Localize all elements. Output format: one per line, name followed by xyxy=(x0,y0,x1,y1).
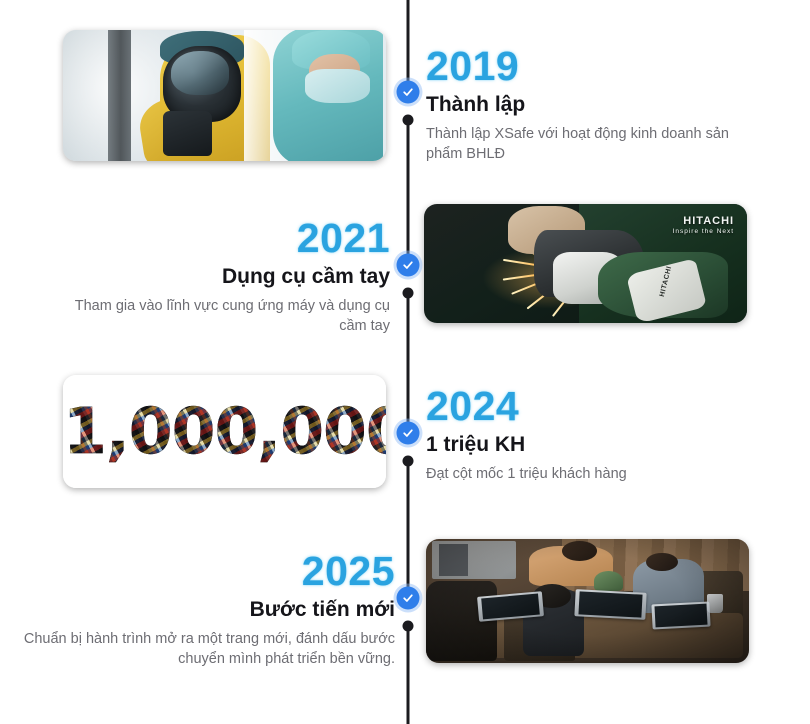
milestone-year: 2021 xyxy=(60,218,390,259)
image-brand-label: HITACHI xyxy=(605,216,734,228)
milestone-image-2025 xyxy=(426,539,749,663)
milestone-headline: Bước tiến mới xyxy=(20,597,395,623)
milestone-text-2025: 2025 Bước tiến mới Chuẩn bị hành trình m… xyxy=(20,551,395,670)
milestone-description: Chuẩn bị hành trình mở ra một trang mới,… xyxy=(20,629,395,670)
spine-segment-5 xyxy=(407,626,410,724)
check-icon xyxy=(402,592,415,605)
scene-protective-equipment xyxy=(63,30,386,161)
milestone-year: 2019 xyxy=(426,46,756,87)
check-icon xyxy=(402,86,415,99)
spine-segment-4 xyxy=(407,461,410,598)
milestone-year: 2025 xyxy=(20,551,395,592)
spine-segment-1 xyxy=(407,0,410,92)
scene-angle-grinder: HITACHI Inspire the Next HITACHI xyxy=(424,204,747,323)
mosaic-number: 1,000,000 xyxy=(63,395,386,468)
milestone-check-2021[interactable] xyxy=(397,254,420,277)
milestone-text-2024: 2024 1 triệu KH Đạt cột mốc 1 triệu khác… xyxy=(426,386,756,484)
milestone-check-2019[interactable] xyxy=(397,81,420,104)
milestone-image-2019 xyxy=(63,30,386,161)
spine-segment-3 xyxy=(407,293,410,433)
check-icon xyxy=(402,427,415,440)
milestone-text-2019: 2019 Thành lập Thành lập XSafe với hoạt … xyxy=(426,46,756,165)
milestone-image-2024: 1,000,000 xyxy=(63,375,386,488)
milestone-headline: Dụng cụ cầm tay xyxy=(60,264,390,290)
milestone-description: Thành lập XSafe với hoạt động kinh doanh… xyxy=(426,124,756,165)
milestone-headline: 1 triệu KH xyxy=(426,432,756,458)
scene-team-with-laptops xyxy=(426,539,749,663)
milestone-check-2024[interactable] xyxy=(397,422,420,445)
milestone-description: Tham gia vào lĩnh vực cung ứng máy và dụ… xyxy=(60,296,390,337)
milestone-text-2021: 2021 Dụng cụ cầm tay Tham gia vào lĩnh v… xyxy=(60,218,390,337)
milestone-image-2021: HITACHI Inspire the Next HITACHI xyxy=(424,204,747,323)
check-icon xyxy=(402,259,415,272)
milestone-description: Đạt cột mốc 1 triệu khách hàng xyxy=(426,464,756,485)
milestone-headline: Thành lập xyxy=(426,92,756,118)
milestone-year: 2024 xyxy=(426,386,756,427)
spine-segment-2 xyxy=(407,120,410,265)
timeline-infographic: 2019 Thành lập Thành lập XSafe với hoạt … xyxy=(0,0,810,724)
scene-photo-mosaic-number: 1,000,000 xyxy=(63,375,386,488)
milestone-check-2025[interactable] xyxy=(397,587,420,610)
